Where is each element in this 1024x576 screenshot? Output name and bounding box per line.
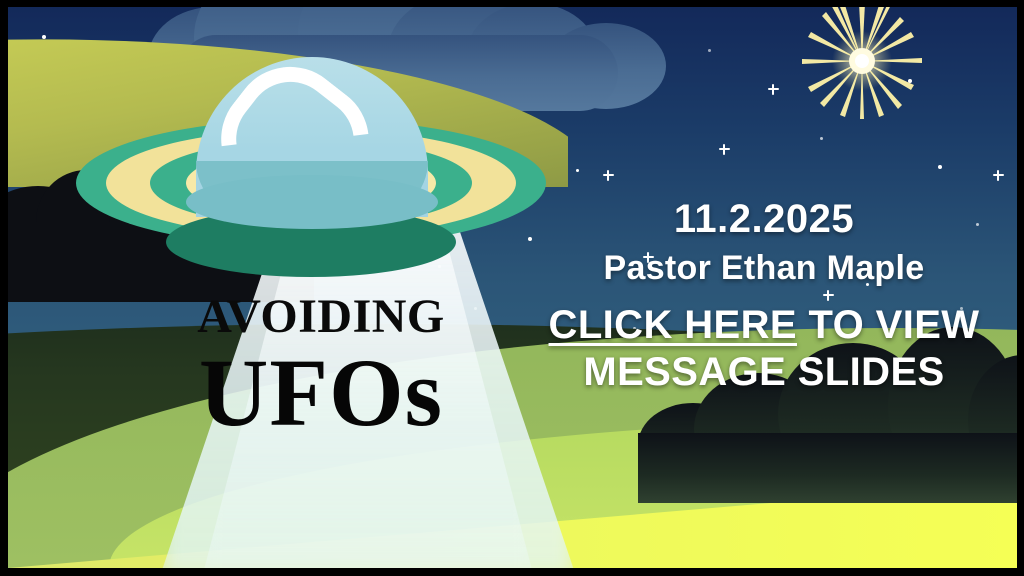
- info-block: 11.2.2025 Pastor Ethan Maple CLICK HERE …: [524, 197, 1004, 396]
- link-underlined-text[interactable]: CLICK HERE: [549, 303, 797, 347]
- speaker-name: Pastor Ethan Maple: [524, 247, 1004, 290]
- slide-stage: AVOIDING UFOs 11.2.2025 Pastor Ethan Map…: [8, 7, 1017, 568]
- title-line-2: UFOs: [186, 343, 456, 444]
- ufo-icon: [76, 57, 546, 257]
- link-line-1[interactable]: CLICK HERE TO VIEW: [524, 302, 1004, 349]
- sermon-date: 11.2.2025: [524, 197, 1004, 241]
- starburst-icon: [800, 7, 924, 127]
- link-rest-text[interactable]: TO VIEW: [797, 303, 979, 347]
- title-line-1: AVOIDING: [186, 293, 456, 341]
- message-slides-link[interactable]: CLICK HERE TO VIEW MESSAGE SLIDES: [524, 302, 1004, 396]
- slide-frame: AVOIDING UFOs 11.2.2025 Pastor Ethan Map…: [0, 0, 1024, 576]
- link-line-2[interactable]: MESSAGE SLIDES: [524, 349, 1004, 396]
- page-title: AVOIDING UFOs: [186, 293, 456, 444]
